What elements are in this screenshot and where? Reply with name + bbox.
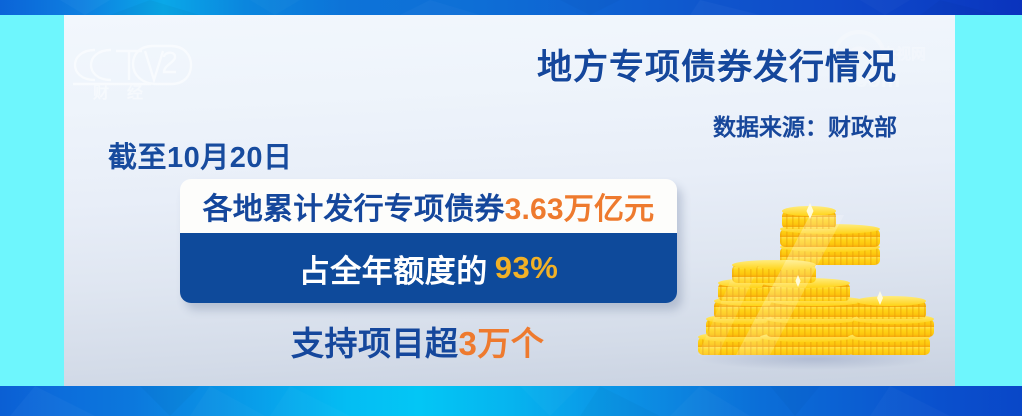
left-cyan-band bbox=[0, 0, 64, 416]
quota-label: 占全年额度的 bbox=[299, 246, 488, 291]
top-bar-facets bbox=[0, 0, 1022, 15]
projects-value: 3万个 bbox=[459, 325, 545, 362]
page-title: 地方专项债券发行情况 bbox=[537, 39, 897, 90]
broadcast-graphic: 财 经 央视网 com 地方专项债券发行情况 数据来源：财政部 截至10月20日… bbox=[0, 0, 1022, 416]
svg-text:财: 财 bbox=[92, 83, 109, 100]
svg-text:经: 经 bbox=[127, 83, 143, 100]
cctv-logo-mark: 财 经 bbox=[67, 38, 197, 100]
bottom-blue-bar bbox=[0, 386, 1022, 416]
bottom-bar-facets bbox=[0, 386, 1022, 416]
top-blue-bar bbox=[0, 0, 1022, 15]
as-of-date: 截至10月20日 bbox=[108, 134, 293, 176]
stat-row-quota: 占全年额度的 93% bbox=[180, 233, 677, 303]
projects-supported-stat: 支持项目超3万个 bbox=[291, 317, 544, 365]
cctv-2-logo: 财 经 bbox=[67, 38, 197, 100]
issuance-value: 3.63万亿元 bbox=[505, 184, 655, 228]
right-cyan-band bbox=[955, 0, 1022, 416]
gold-coin-stack-icon bbox=[692, 187, 937, 382]
stat-row-issuance: 各地累计发行专项债券 3.63万亿元 bbox=[180, 179, 677, 233]
graphic-stage: 财 经 央视网 com 地方专项债券发行情况 数据来源：财政部 截至10月20日… bbox=[64, 15, 955, 386]
data-source-label: 数据来源：财政部 bbox=[713, 108, 897, 142]
stat-callout-card: 各地累计发行专项债券 3.63万亿元 占全年额度的 93% bbox=[180, 179, 677, 303]
quota-value: 93% bbox=[488, 250, 559, 286]
projects-label: 支持项目超 bbox=[291, 325, 459, 362]
coin-stack-art bbox=[692, 187, 937, 382]
issuance-label: 各地累计发行专项债券 bbox=[203, 184, 505, 228]
